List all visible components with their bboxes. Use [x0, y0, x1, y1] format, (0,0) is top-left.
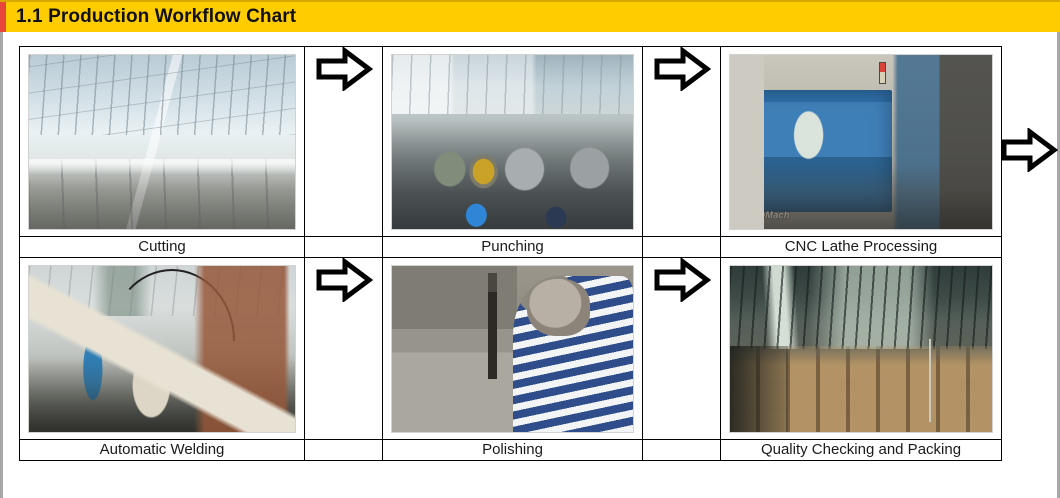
table-row: Automatic Welding Polishing Quality Chec… — [20, 440, 1002, 461]
photo-wrapper — [383, 258, 642, 439]
right-block-arrow-icon — [315, 47, 373, 91]
right-block-arrow-icon — [1000, 128, 1058, 172]
warehouse-shadow — [730, 346, 788, 432]
punching-press-photo — [391, 54, 634, 230]
drill-press-spindle-icon — [488, 273, 497, 379]
workflow-spacer-cell-2 — [643, 237, 721, 258]
quality-checking-packing-photo — [729, 265, 993, 433]
right-block-arrow-icon — [315, 258, 373, 302]
workflow-arrow-cell-4 — [643, 258, 721, 440]
automatic-welding-photo — [28, 265, 296, 433]
photo-wrapper — [721, 258, 1001, 439]
page-left-border — [0, 32, 3, 498]
workflow-arrow-cell-3 — [305, 258, 383, 440]
workflow-label-cutting: Cutting — [20, 237, 305, 258]
warehouse-lamp-pole-icon — [929, 339, 931, 422]
workflow-arrow-cell-1 — [305, 47, 383, 237]
right-block-arrow-icon — [653, 258, 711, 302]
welding-hose-icon — [109, 269, 235, 341]
workflow-spacer-cell-4 — [643, 440, 721, 461]
workflow-label-automatic-welding: Automatic Welding — [20, 440, 305, 461]
workflow-label-punching: Punching — [383, 237, 643, 258]
workflow-step-cell-automatic-welding[interactable] — [20, 258, 305, 440]
right-block-arrow-icon — [653, 47, 711, 91]
workflow-step-cell-cnc-lathe[interactable]: FineMach — [721, 47, 1002, 237]
workflow-label-polishing: Polishing — [383, 440, 643, 461]
photo-wrapper — [20, 47, 304, 236]
page-title: 1.1 Production Workflow Chart — [6, 6, 296, 28]
workflow-step-cell-quality-checking-packing[interactable] — [721, 258, 1002, 440]
worker-head-icon — [527, 279, 590, 335]
cutting-workshop-photo — [28, 54, 296, 230]
table-row — [20, 258, 1002, 440]
workflow-step-cell-polishing[interactable] — [383, 258, 643, 440]
workflow-step-cell-punching[interactable] — [383, 47, 643, 237]
cnc-lathe-photo: FineMach — [729, 54, 993, 230]
table-row: FineMach — [20, 47, 1002, 237]
polishing-photo — [391, 265, 634, 433]
workflow-spacer-cell-1 — [305, 237, 383, 258]
section-header-bar: 1.1 Production Workflow Chart — [0, 0, 1060, 32]
workflow-spacer-cell-3 — [305, 440, 383, 461]
machine-brand-label: FineMach — [746, 210, 790, 220]
photo-wrapper: FineMach — [721, 47, 1001, 236]
table-row: Cutting Punching CNC Lathe Processing — [20, 237, 1002, 258]
workflow-arrow-trailing — [1000, 128, 1058, 174]
workflow-step-cell-cutting[interactable] — [20, 47, 305, 237]
machine-signal-lamp-icon — [879, 62, 886, 84]
photo-wrapper — [20, 258, 304, 439]
production-workflow-table: FineMach Cutting Punching CNC Lathe Proc… — [19, 46, 1002, 461]
workflow-label-cnc-lathe: CNC Lathe Processing — [721, 237, 1002, 258]
workflow-label-quality-checking-packing: Quality Checking and Packing — [721, 440, 1002, 461]
workflow-arrow-cell-2 — [643, 47, 721, 237]
photo-wrapper — [383, 47, 642, 236]
